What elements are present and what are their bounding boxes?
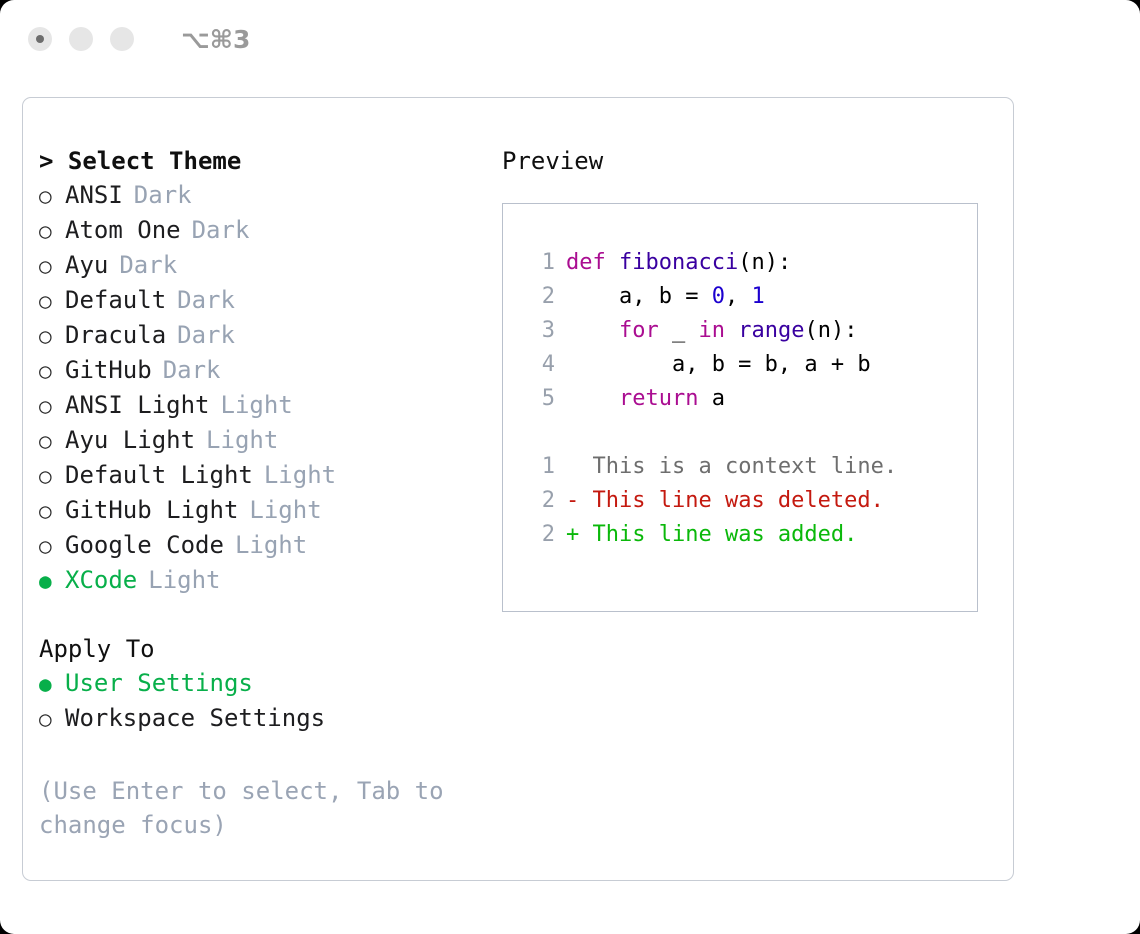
code-token-plain: a	[698, 386, 725, 411]
radio-unselected-icon: ○	[39, 284, 65, 318]
theme-variant-badge: Light	[264, 458, 336, 492]
theme-option-ayu[interactable]: ○AyuDark	[39, 248, 493, 283]
diff-line-del: 2- This line was deleted.	[521, 484, 977, 518]
code-line-content: return a	[566, 382, 725, 416]
code-line-content: a, b = 0, 1	[566, 280, 765, 314]
line-number: 2	[521, 280, 566, 314]
code-line: 3 for _ in range(n):	[521, 314, 977, 348]
code-line-content: a, b = b, a + b	[566, 348, 871, 382]
theme-option-github-light[interactable]: ○GitHub LightLight	[39, 493, 493, 528]
line-number: 1	[521, 246, 566, 280]
diff-marker: -	[566, 484, 593, 518]
theme-option-label: GitHub	[65, 353, 152, 387]
code-token-plain: _	[659, 318, 699, 343]
theme-variant-badge: Light	[235, 528, 307, 562]
diff-line-content: This line was added.	[593, 518, 858, 552]
theme-option-google-code[interactable]: ○Google CodeLight	[39, 528, 493, 563]
theme-variant-badge: Dark	[163, 353, 221, 387]
theme-variant-badge: Light	[148, 563, 220, 597]
diff-marker: +	[566, 518, 593, 552]
theme-option-label: Default Light	[65, 458, 253, 492]
theme-variant-badge: Light	[206, 423, 278, 457]
apply-to-heading: Apply To	[39, 632, 493, 666]
preview-box: 1def fibonacci(n):2 a, b = 0, 13 for _ i…	[502, 203, 978, 612]
line-number: 1	[521, 450, 566, 484]
theme-option-label: Default	[65, 283, 166, 317]
theme-option-label: Ayu Light	[65, 423, 195, 457]
code-line: 5 return a	[521, 382, 977, 416]
radio-unselected-icon: ○	[39, 459, 65, 493]
code-token-kw: return	[619, 386, 698, 411]
code-line: 4 a, b = b, a + b	[521, 348, 977, 382]
code-token-kw: for	[619, 318, 659, 343]
theme-variant-badge: Light	[249, 493, 321, 527]
code-token-plain: ,	[725, 284, 752, 309]
theme-option-label: ANSI Light	[65, 388, 210, 422]
code-token-fn: fibonacci	[619, 250, 738, 275]
radio-unselected-icon: ○	[39, 424, 65, 458]
code-token-num: 1	[751, 284, 764, 309]
select-theme-prompt: > Select Theme	[39, 144, 493, 178]
code-line: 1def fibonacci(n):	[521, 246, 977, 280]
code-token-plain	[725, 318, 738, 343]
theme-option-ayu-light[interactable]: ○Ayu LightLight	[39, 423, 493, 458]
theme-selection-panel: > Select Theme ○ANSIDark○Atom OneDark○Ay…	[23, 144, 493, 880]
line-number: 4	[521, 348, 566, 382]
apply-to-option-workspace-settings[interactable]: ○Workspace Settings	[39, 701, 493, 736]
theme-option-label: Ayu	[65, 248, 108, 282]
theme-option-default-light[interactable]: ○Default LightLight	[39, 458, 493, 493]
keyboard-hint-text: (Use Enter to select, Tab to change focu…	[39, 774, 459, 842]
radio-unselected-icon: ○	[39, 214, 65, 248]
code-token-fn: range	[738, 318, 804, 343]
code-line-content: def fibonacci(n):	[566, 246, 791, 280]
radio-unselected-icon: ○	[39, 529, 65, 563]
code-token-kw: in	[698, 318, 725, 343]
theme-option-ansi[interactable]: ○ANSIDark	[39, 178, 493, 213]
window-minimize-button[interactable]	[69, 27, 93, 51]
line-number: 5	[521, 382, 566, 416]
preview-panel: Preview 1def fibonacci(n):2 a, b = 0, 13…	[493, 144, 1013, 880]
theme-option-label: ANSI	[65, 178, 123, 212]
code-token-kw: def	[566, 250, 619, 275]
theme-option-label: Dracula	[65, 318, 166, 352]
theme-variant-badge: Dark	[119, 248, 177, 282]
line-number: 2	[521, 484, 566, 518]
theme-variant-badge: Dark	[177, 283, 235, 317]
radio-unselected-icon: ○	[39, 179, 65, 213]
apply-to-option-label: Workspace Settings	[65, 701, 325, 735]
theme-option-label: GitHub Light	[65, 493, 238, 527]
radio-unselected-icon: ○	[39, 354, 65, 388]
diff-sample: 1 This is a context line.2- This line wa…	[521, 450, 977, 552]
code-token-plain	[566, 318, 619, 343]
app-window: ⌥⌘3 > Select Theme ○ANSIDark○Atom OneDar…	[0, 0, 1140, 934]
code-sample: 1def fibonacci(n):2 a, b = 0, 13 for _ i…	[521, 246, 977, 416]
theme-variant-badge: Dark	[134, 178, 192, 212]
diff-line-context: 1 This is a context line.	[521, 450, 977, 484]
line-number: 2	[521, 518, 566, 552]
code-token-plain: (n):	[738, 250, 791, 275]
title-bar: ⌥⌘3	[0, 0, 1140, 78]
theme-variant-badge: Dark	[192, 213, 250, 247]
radio-unselected-icon: ○	[39, 702, 65, 736]
radio-unselected-icon: ○	[39, 319, 65, 353]
radio-unselected-icon: ○	[39, 494, 65, 528]
theme-option-default[interactable]: ○DefaultDark	[39, 283, 493, 318]
theme-option-label: Atom One	[65, 213, 181, 247]
keyboard-shortcut-badge: ⌥⌘3	[181, 25, 250, 54]
apply-to-option-user-settings[interactable]: ●User Settings	[39, 666, 493, 701]
theme-option-xcode[interactable]: ●XCodeLight	[39, 563, 493, 598]
window-maximize-button[interactable]	[110, 27, 134, 51]
theme-variant-badge: Light	[221, 388, 293, 422]
code-diff-separator	[521, 416, 977, 450]
code-token-plain: a, b =	[566, 284, 712, 309]
code-line: 2 a, b = 0, 1	[521, 280, 977, 314]
theme-option-ansi-light[interactable]: ○ANSI LightLight	[39, 388, 493, 423]
apply-to-option-label: User Settings	[65, 666, 253, 700]
diff-line-add: 2+ This line was added.	[521, 518, 977, 552]
theme-option-github[interactable]: ○GitHubDark	[39, 353, 493, 388]
radio-unselected-icon: ○	[39, 389, 65, 423]
theme-variant-badge: Dark	[177, 318, 235, 352]
theme-option-atom-one[interactable]: ○Atom OneDark	[39, 213, 493, 248]
theme-options-list: ○ANSIDark○Atom OneDark○AyuDark○DefaultDa…	[39, 178, 493, 598]
section-spacer	[39, 598, 493, 632]
window-close-button[interactable]	[28, 27, 52, 51]
radio-selected-icon: ●	[39, 564, 65, 598]
diff-line-content: This is a context line.	[593, 450, 898, 484]
preview-heading: Preview	[502, 144, 1013, 178]
code-token-plain: (n):	[804, 318, 857, 343]
theme-option-label: Google Code	[65, 528, 224, 562]
code-token-num: 0	[712, 284, 725, 309]
code-line-content: for _ in range(n):	[566, 314, 857, 348]
apply-to-options-list: ●User Settings○Workspace Settings	[39, 666, 493, 736]
theme-option-dracula[interactable]: ○DraculaDark	[39, 318, 493, 353]
code-token-plain	[566, 386, 619, 411]
line-number: 3	[521, 314, 566, 348]
code-token-plain: a, b = b, a + b	[566, 352, 871, 377]
diff-line-content: This line was deleted.	[593, 484, 884, 518]
theme-selector-dialog: > Select Theme ○ANSIDark○Atom OneDark○Ay…	[22, 97, 1014, 881]
diff-marker	[566, 450, 593, 484]
window-controls	[28, 27, 134, 51]
radio-selected-icon: ●	[39, 667, 65, 701]
radio-unselected-icon: ○	[39, 249, 65, 283]
theme-option-label: XCode	[65, 563, 137, 597]
